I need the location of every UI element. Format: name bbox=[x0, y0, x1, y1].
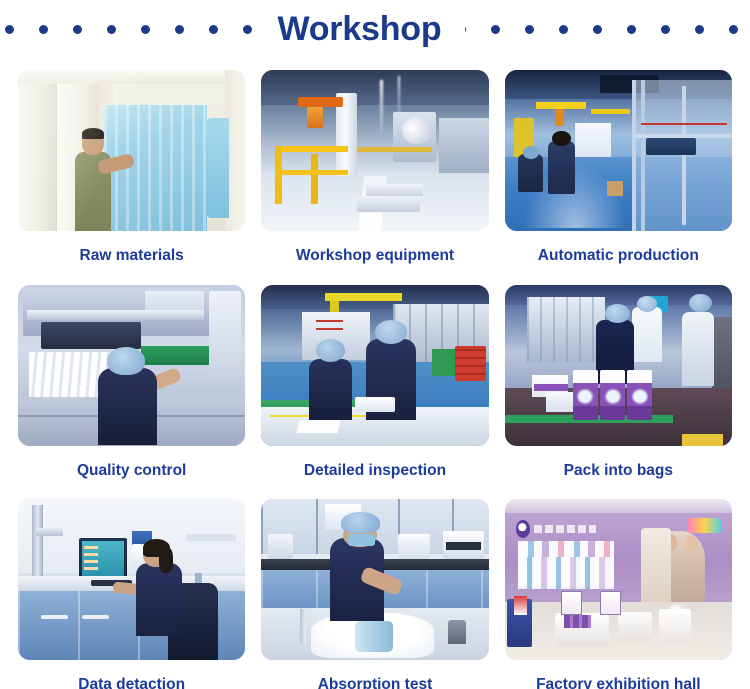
workshop-photo-grid: Raw materials Worksh bbox=[0, 58, 750, 689]
caption-pack-into-bags: Pack into bags bbox=[564, 463, 673, 479]
header-dot bbox=[175, 25, 184, 34]
caption-raw-materials: Raw materials bbox=[80, 248, 184, 264]
photo-data-detaction[interactable] bbox=[18, 499, 245, 660]
gallery-item-absorption-test[interactable]: Absorption test bbox=[261, 499, 488, 689]
photo-factory-exhibition-hall[interactable] bbox=[505, 499, 732, 660]
header-dot bbox=[107, 25, 116, 34]
header-dots-left bbox=[0, 25, 253, 34]
header-dot bbox=[39, 25, 48, 34]
header-dot bbox=[559, 25, 568, 34]
caption-detailed-inspection: Detailed inspection bbox=[304, 463, 446, 479]
header-dot bbox=[5, 25, 14, 34]
header-dot bbox=[661, 25, 670, 34]
page-title: Workshop bbox=[263, 12, 455, 46]
gallery-item-workshop-equipment[interactable]: Workshop equipment bbox=[261, 70, 488, 285]
photo-quality-control[interactable] bbox=[18, 285, 245, 446]
photo-absorption-test[interactable] bbox=[261, 499, 488, 660]
exhibition-logo-icon bbox=[516, 520, 530, 538]
gallery-item-quality-control[interactable]: Quality control bbox=[18, 285, 245, 500]
gallery-item-detailed-inspection[interactable]: Detailed inspection bbox=[261, 285, 488, 500]
header-dots-right bbox=[465, 25, 750, 34]
photo-automatic-production[interactable] bbox=[505, 70, 732, 231]
photo-workshop-equipment[interactable] bbox=[261, 70, 488, 231]
header-dot bbox=[695, 25, 704, 34]
caption-quality-control: Quality control bbox=[77, 463, 186, 479]
workshop-gallery-page: Workshop bbox=[0, 0, 750, 689]
header-dot bbox=[243, 25, 252, 34]
gallery-item-raw-materials[interactable]: Raw materials bbox=[18, 70, 245, 285]
caption-data-detaction: Data detaction bbox=[78, 677, 185, 689]
caption-automatic-production: Automatic production bbox=[538, 248, 699, 264]
header-dot bbox=[729, 25, 738, 34]
exhibition-brand-text bbox=[534, 525, 595, 533]
page-header: Workshop bbox=[0, 0, 750, 58]
header-dot bbox=[525, 25, 534, 34]
gallery-item-data-detaction[interactable]: Data detaction bbox=[18, 499, 245, 689]
header-dot bbox=[627, 25, 636, 34]
gallery-item-automatic-production[interactable]: Automatic production bbox=[505, 70, 732, 285]
gallery-item-factory-exhibition-hall[interactable]: Factory exhibition hall bbox=[505, 499, 732, 689]
header-dot bbox=[491, 25, 500, 34]
caption-absorption-test: Absorption test bbox=[318, 677, 433, 689]
header-dot bbox=[141, 25, 150, 34]
photo-raw-materials[interactable] bbox=[18, 70, 245, 231]
caption-factory-exhibition-hall: Factory exhibition hall bbox=[536, 677, 701, 689]
header-dot bbox=[209, 25, 218, 34]
header-dot bbox=[593, 25, 602, 34]
photo-pack-into-bags[interactable] bbox=[505, 285, 732, 446]
tipiti-logo-icon bbox=[687, 518, 721, 532]
header-dot bbox=[73, 25, 82, 34]
photo-detailed-inspection[interactable] bbox=[261, 285, 488, 446]
gallery-item-pack-into-bags[interactable]: Pack into bags bbox=[505, 285, 732, 500]
caption-workshop-equipment: Workshop equipment bbox=[296, 248, 454, 264]
